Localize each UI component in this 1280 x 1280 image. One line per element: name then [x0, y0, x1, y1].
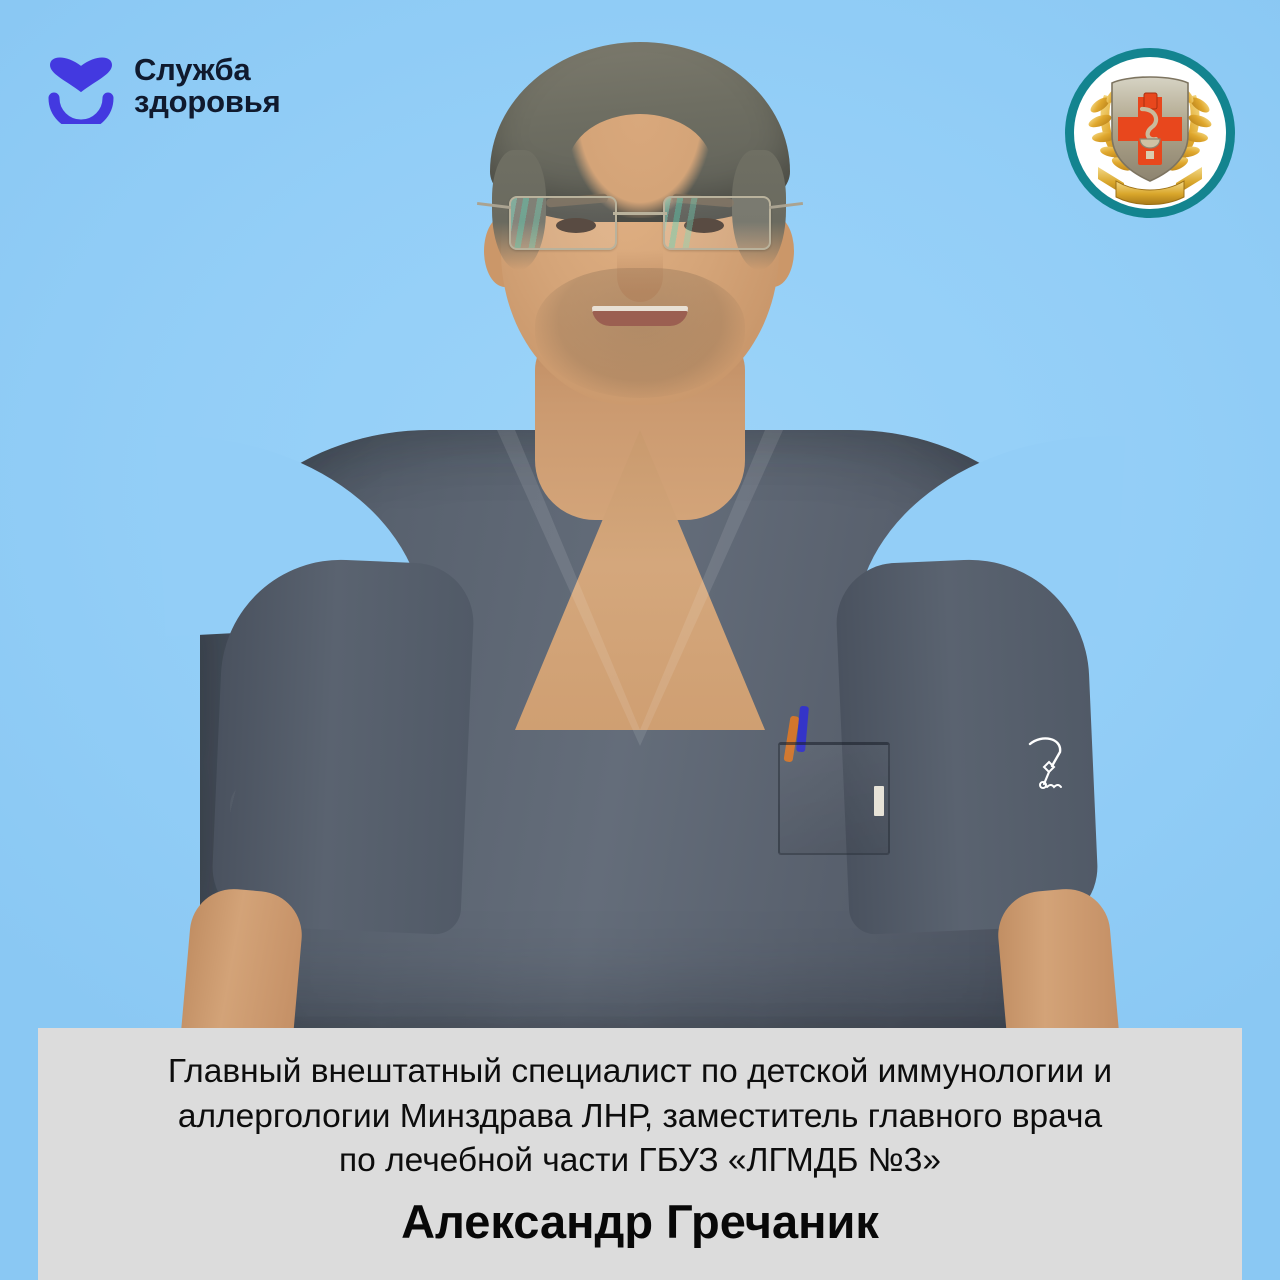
person-name: Александр Гречаник	[64, 1194, 1216, 1250]
caption-role-line-3: по лечебной части ГБУЗ «ЛГМДБ №3»	[339, 1142, 941, 1179]
nose	[617, 250, 663, 302]
heart-smile-logo-icon	[44, 48, 118, 124]
brand-line-1: Служба	[134, 54, 281, 86]
care-label-tag	[874, 786, 884, 816]
caption-role: Главный внештатный специалист по детской…	[64, 1050, 1216, 1184]
sleeve-left	[210, 555, 476, 936]
glasses-lens-right	[663, 196, 771, 250]
poster-card: Служба здоровья	[0, 0, 1280, 1280]
glasses-lens-left	[509, 196, 617, 250]
ministry-health-emblem-icon	[1064, 47, 1236, 219]
glasses-icon	[509, 196, 771, 252]
brand-logo: Служба здоровья	[44, 48, 281, 124]
mouth	[592, 306, 688, 326]
caption-role-line-2: аллергологии Минздрава ЛНР, заместитель …	[178, 1098, 1102, 1135]
sleeve-embroidery-icon	[1022, 732, 1074, 794]
caption-role-line-1: Главный внештатный специалист по детской…	[168, 1053, 1112, 1090]
glasses-bridge	[613, 212, 667, 215]
brand-wordmark: Служба здоровья	[134, 54, 281, 118]
caption-panel: Главный внештатный специалист по детской…	[38, 1028, 1242, 1280]
brand-line-2: здоровья	[134, 86, 281, 118]
